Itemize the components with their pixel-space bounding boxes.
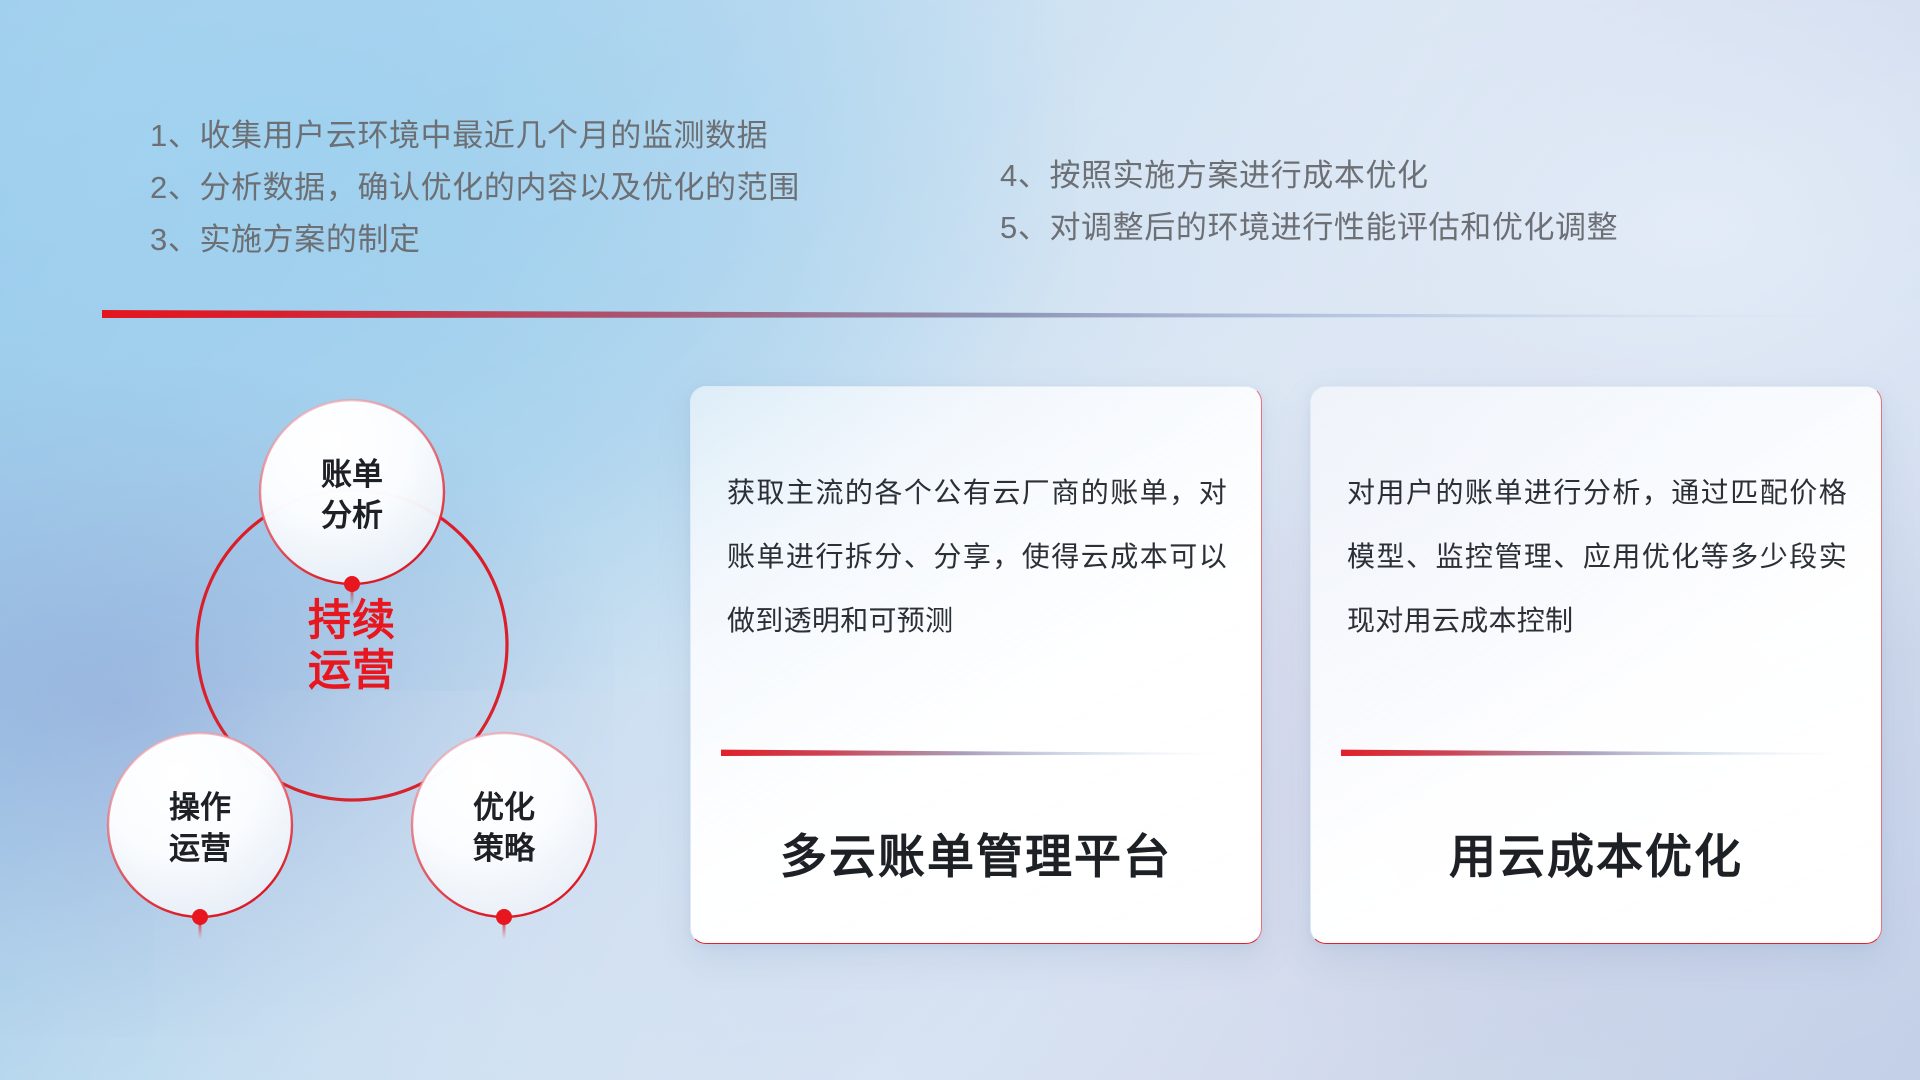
card-title: 多云账单管理平台: [691, 818, 1261, 887]
steps-left-column: 1、收集用户云环境中最近几个月的监测数据 2、分析数据，确认优化的内容以及优化的…: [150, 110, 800, 266]
venn-node-label-line1: 操作: [169, 790, 231, 825]
card-multi-cloud-billing-platform[interactable]: 获取主流的各个公有云厂商的账单，对账单进行拆分、分享，使得云成本可以做到透明和可…: [690, 386, 1262, 944]
venn-node-dot: [344, 576, 360, 592]
venn-node-circle: [260, 400, 444, 584]
venn-node-label-line1: 账单: [321, 457, 383, 492]
card-accent-rule: [721, 749, 1229, 757]
venn-center-label-line1: 持续: [308, 597, 396, 645]
venn-node-dot: [496, 909, 512, 925]
card-description: 对用户的账单进行分析，通过匹配价格模型、监控管理、应用优化等多少段实现对用云成本…: [1347, 461, 1847, 653]
card-cloud-cost-optimization[interactable]: 对用户的账单进行分析，通过匹配价格模型、监控管理、应用优化等多少段实现对用云成本…: [1310, 386, 1882, 944]
venn-node-optimization[interactable]: 优化 策略: [412, 733, 596, 939]
venn-node-dot: [192, 909, 208, 925]
venn-node-operations[interactable]: 操作 运营: [108, 733, 292, 939]
card-accent-rule: [1341, 749, 1849, 757]
step-item-1: 1、收集用户云环境中最近几个月的监测数据: [150, 110, 800, 162]
section-divider: [102, 307, 1892, 321]
step-item-3: 3、实施方案的制定: [150, 214, 800, 266]
card-body: 对用户的账单进行分析，通过匹配价格模型、监控管理、应用优化等多少段实现对用云成本…: [1311, 387, 1881, 653]
continuous-operations-venn: 账单 分析 操作 运营 优化 策略 持续 运营: [60, 340, 680, 960]
card-body: 获取主流的各个公有云厂商的账单，对账单进行拆分、分享，使得云成本可以做到透明和可…: [691, 387, 1261, 653]
card-title: 用云成本优化: [1311, 818, 1881, 887]
step-item-2: 2、分析数据，确认优化的内容以及优化的范围: [150, 162, 800, 214]
venn-center-label-line2: 运营: [308, 647, 396, 695]
process-steps-list: 1、收集用户云环境中最近几个月的监测数据 2、分析数据，确认优化的内容以及优化的…: [0, 110, 1920, 295]
steps-right-column: 4、按照实施方案进行成本优化 5、对调整后的环境进行性能评估和优化调整: [1000, 150, 1618, 254]
venn-node-label-line2: 运营: [169, 831, 231, 866]
venn-node-label-line2: 策略: [473, 831, 536, 866]
venn-node-circle: [108, 733, 292, 917]
step-item-5: 5、对调整后的环境进行性能评估和优化调整: [1000, 202, 1618, 254]
card-description: 获取主流的各个公有云厂商的账单，对账单进行拆分、分享，使得云成本可以做到透明和可…: [727, 461, 1227, 653]
venn-node-label-line2: 分析: [321, 498, 383, 533]
venn-node-billing-analysis[interactable]: 账单 分析: [260, 400, 444, 606]
venn-node-label-line1: 优化: [473, 790, 535, 825]
venn-node-circle: [412, 733, 596, 917]
step-item-4: 4、按照实施方案进行成本优化: [1000, 150, 1618, 202]
